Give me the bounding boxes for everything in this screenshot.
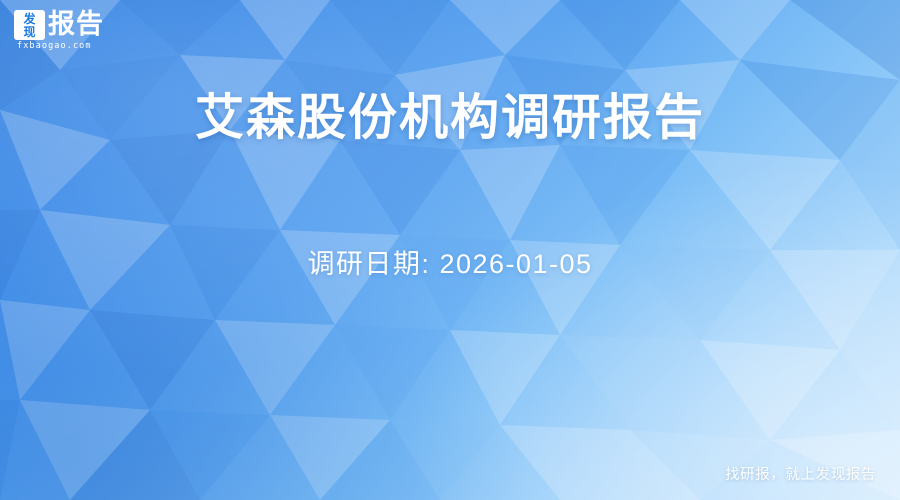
logo-badge-bottom-char: 现: [23, 26, 35, 38]
survey-date: 调研日期: 2026-01-05: [0, 242, 900, 281]
logo-badge-icon: 发 现: [14, 10, 45, 40]
logo-badge-top-char: 发: [23, 13, 35, 25]
brand-logo[interactable]: 发 现 报告 fxbaogao.com: [14, 8, 164, 52]
title-block: 艾森股份机构调研报告 调研日期: 2026-01-05: [0, 86, 900, 281]
logo-wordmark: 报告: [48, 8, 104, 40]
logo-url: fxbaogao.com: [17, 41, 92, 51]
title-slide: 发 现 报告 fxbaogao.com 艾森股份机构调研报告 调研日期: 202…: [0, 0, 900, 500]
footer-slogan: 找研报，就上发现报告: [725, 463, 876, 484]
page-title: 艾森股份机构调研报告: [0, 86, 900, 150]
